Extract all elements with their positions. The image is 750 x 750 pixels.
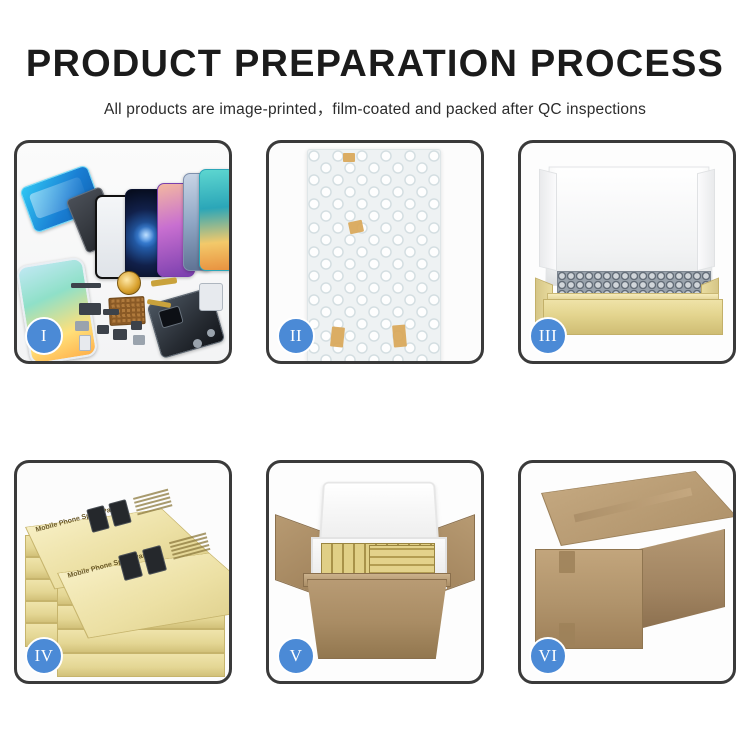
spare-part-icon: [133, 335, 145, 345]
carton-tape-icon: [559, 551, 575, 573]
screw-icon: [207, 329, 215, 337]
spare-part-icon: [79, 335, 91, 351]
bubble-wrap-icon: [307, 149, 441, 361]
tape-icon: [392, 324, 407, 347]
header: PRODUCT PREPARATION PROCESS All products…: [0, 0, 750, 119]
step-badge-2: II: [277, 317, 315, 355]
stacked-box: [57, 629, 225, 653]
spare-part-icon: [79, 303, 101, 315]
process-steps-grid: I II: [14, 140, 736, 680]
spare-part-icon: [151, 277, 178, 287]
spare-part-icon: [113, 329, 127, 340]
foam-box-lid-icon: [319, 482, 439, 545]
spare-part-icon: [97, 325, 109, 334]
spare-part-icon: [103, 309, 119, 315]
kraft-box-front-icon: [543, 299, 723, 335]
lcd-screen-teal-icon: [199, 169, 229, 271]
process-step-panel-6: VI: [518, 460, 736, 684]
step-badge-6: VI: [529, 637, 567, 675]
step-badge-5: V: [277, 637, 315, 675]
box-lid-right-flap-icon: [697, 169, 715, 271]
process-step-panel-5: V: [266, 460, 484, 684]
step-badge-4: IV: [25, 637, 63, 675]
spare-part-icon: [75, 321, 89, 331]
page-subtitle: All products are image-printed，film-coat…: [0, 83, 750, 119]
process-step-panel-1: I: [14, 140, 232, 364]
spare-part-icon: [71, 283, 101, 288]
step-badge-1: I: [25, 317, 63, 355]
tape-icon: [330, 326, 345, 347]
process-step-panel-4: Mobile Phone Spare Parts Mobile Phone Sp…: [14, 460, 232, 684]
page-title: PRODUCT PREPARATION PROCESS: [0, 0, 750, 83]
tape-icon: [343, 153, 355, 162]
carton-front-face-icon: [535, 549, 643, 649]
box-lid-left-flap-icon: [539, 169, 557, 271]
tool-icon: [199, 283, 223, 311]
carton-right-face-icon: [639, 529, 725, 629]
step-badge-3: III: [529, 317, 567, 355]
spare-part-icon: [131, 321, 142, 330]
stacked-box: [57, 653, 225, 677]
screw-icon: [193, 339, 202, 348]
carton-body-icon: [307, 579, 447, 659]
speaker-coil-icon: [117, 271, 141, 295]
process-step-panel-3: III: [518, 140, 736, 364]
product-preparation-infographic: PRODUCT PREPARATION PROCESS All products…: [0, 0, 750, 750]
process-step-panel-2: II: [266, 140, 484, 364]
white-box-lid-icon: [545, 167, 713, 286]
